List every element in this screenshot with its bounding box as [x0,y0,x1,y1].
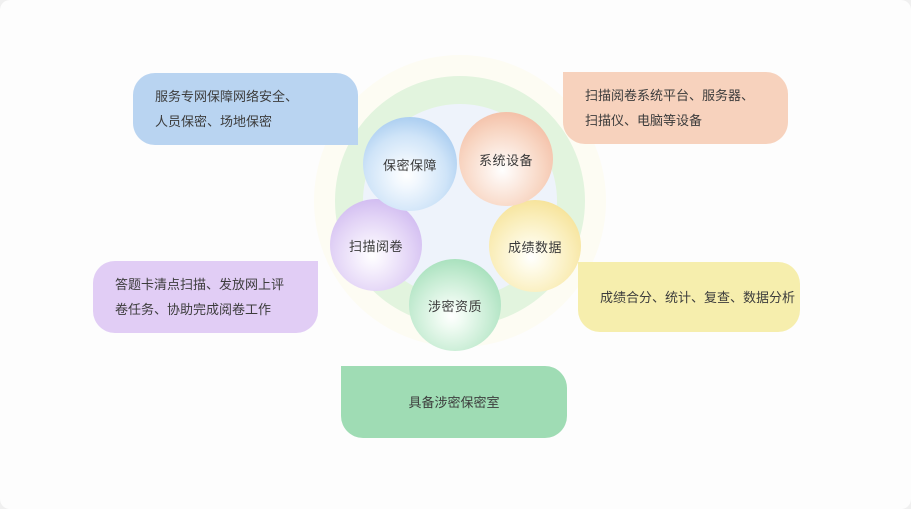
sphere-label: 保密保障 [383,155,437,174]
sphere-classified-qualification[interactable]: 涉密资质 [409,259,501,351]
callout-line: 人员保密、场地保密 [155,109,336,134]
sphere-label: 成绩数据 [508,237,562,256]
callout-line: 卷任务、协助完成阅卷工作 [115,297,296,322]
sphere-score-data[interactable]: 成绩数据 [489,200,581,292]
callout-line: 成绩合分、统计、复查、数据分析 [600,285,778,310]
sphere-label: 扫描阅卷 [349,236,403,255]
callout-system-equipment[interactable]: 扫描阅卷系统平台、服务器、 扫描仪、电脑等设备 [563,72,788,144]
callout-confidentiality-assurance[interactable]: 服务专网保障网络安全、 人员保密、场地保密 [133,73,358,145]
callout-line: 具备涉密保密室 [408,390,499,415]
sphere-scanning-marking[interactable]: 扫描阅卷 [330,199,422,291]
sphere-system-equipment[interactable]: 系统设备 [459,112,553,206]
callout-score-data[interactable]: 成绩合分、统计、复查、数据分析 [578,262,800,332]
callout-line: 服务专网保障网络安全、 [155,84,336,109]
sphere-label: 涉密资质 [428,296,482,315]
callout-classified-qualification[interactable]: 具备涉密保密室 [341,366,567,438]
sphere-label: 系统设备 [479,150,533,169]
callout-scanning-marking[interactable]: 答题卡清点扫描、发放网上评 卷任务、协助完成阅卷工作 [93,261,318,333]
sphere-confidentiality-assurance[interactable]: 保密保障 [363,117,457,211]
diagram-canvas: 扫描阅卷 涉密资质 成绩数据 保密保障 系统设备 服务专网保障网络安全、 人员保… [0,0,911,509]
callout-line: 扫描阅卷系统平台、服务器、 [585,83,766,108]
callout-line: 答题卡清点扫描、发放网上评 [115,272,296,297]
callout-line: 扫描仪、电脑等设备 [585,108,766,133]
